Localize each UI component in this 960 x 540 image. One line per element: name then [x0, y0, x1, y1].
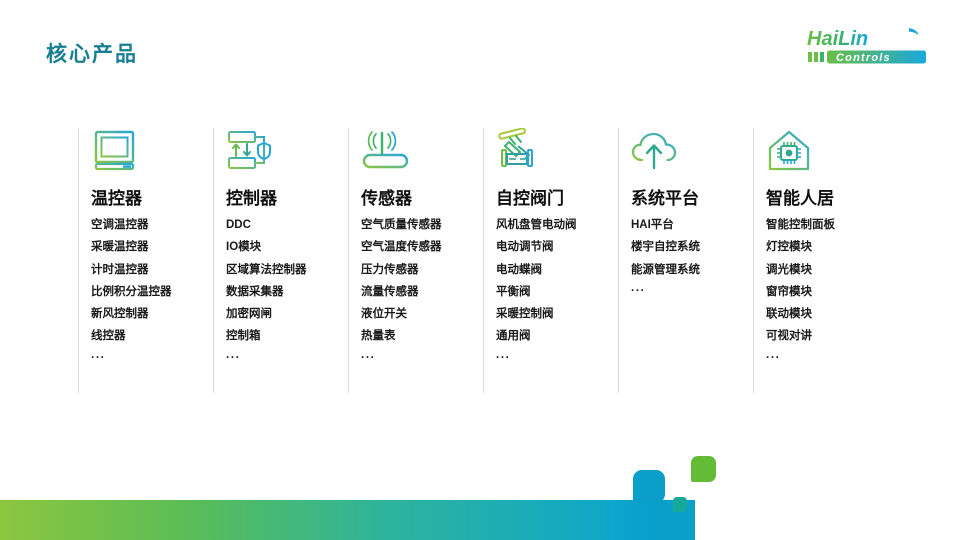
more-items-ellipsis: ···: [631, 285, 747, 297]
product-column-sensor: 传感器 空气质量传感器 空气温度传感器 压力传感器 流量传感器 液位开关 热量表…: [348, 128, 483, 393]
product-item: 液位开关: [361, 307, 477, 322]
product-item: 可视对讲: [766, 329, 882, 344]
monitor-thermostat-icon: [91, 128, 141, 174]
more-items-ellipsis: ···: [496, 352, 612, 364]
product-column-platform: 系统平台 HAI平台 楼宇自控系统 能源管理系统 ···: [618, 128, 753, 393]
product-column-thermostat: 温控器 空调温控器 采暖温控器 计时温控器 比例积分温控器 新风控制器 线控器 …: [78, 128, 213, 393]
product-item: 压力传感器: [361, 263, 477, 278]
more-items-ellipsis: ···: [361, 352, 477, 364]
product-item: 空调温控器: [91, 218, 207, 233]
product-item: HAI平台: [631, 218, 747, 233]
column-title: 传感器: [361, 188, 477, 209]
column-title: 智能人居: [766, 188, 882, 209]
product-item: 平衡阀: [496, 285, 612, 300]
product-item: 楼宇自控系统: [631, 240, 747, 255]
product-item: 线控器: [91, 329, 207, 344]
column-title: 控制器: [226, 188, 342, 209]
product-item: 窗帘模块: [766, 285, 882, 300]
svg-text:HaiLin: HaiLin: [807, 28, 868, 50]
wireless-sensor-icon: [361, 128, 411, 174]
product-item: 灯控模块: [766, 240, 882, 255]
product-item: 流量传感器: [361, 285, 477, 300]
product-item: 热量表: [361, 329, 477, 344]
more-items-ellipsis: ···: [766, 352, 882, 364]
product-item: 数据采集器: [226, 285, 342, 300]
product-item: 联动模块: [766, 307, 882, 322]
product-item: 比例积分温控器: [91, 285, 207, 300]
logo-graphic: HaiLin Controls: [806, 26, 932, 68]
product-item: 调光模块: [766, 263, 882, 278]
product-item: 电动调节阀: [496, 240, 612, 255]
hailin-controls-logo: HaiLin Controls: [806, 26, 932, 68]
page-title: 核心产品: [46, 38, 138, 68]
smart-home-chip-icon: [766, 128, 816, 174]
product-item: 电动蝶阀: [496, 263, 612, 278]
product-item: 能源管理系统: [631, 263, 747, 278]
product-item: 区域算法控制器: [226, 263, 342, 278]
cloud-upload-icon: [631, 128, 681, 174]
svg-text:Controls: Controls: [836, 52, 891, 64]
product-item: 新风控制器: [91, 307, 207, 322]
product-item: 风机盘管电动阀: [496, 218, 612, 233]
product-item: 采暖温控器: [91, 240, 207, 255]
product-category-columns: 温控器 空调温控器 采暖温控器 计时温控器 比例积分温控器 新风控制器 线控器 …: [78, 128, 888, 393]
product-item: DDC: [226, 218, 342, 233]
product-column-controller: 控制器 DDC IO模块 区域算法控制器 数据采集器 加密网闸 控制箱 ···: [213, 128, 348, 393]
decorative-tile-teal: [673, 497, 687, 512]
product-item: 通用阀: [496, 329, 612, 344]
product-item: 智能控制面板: [766, 218, 882, 233]
decorative-tile-green: [691, 456, 716, 482]
decorative-tile-blue: [633, 470, 665, 503]
column-title: 温控器: [91, 188, 207, 209]
product-item: 空气温度传感器: [361, 240, 477, 255]
column-title: 系统平台: [631, 188, 747, 209]
controller-module-icon: [226, 128, 276, 174]
product-item: 加密网闸: [226, 307, 342, 322]
product-column-valve: 自控阀门 风机盘管电动阀 电动调节阀 电动蝶阀 平衡阀 采暖控制阀 通用阀 ··…: [483, 128, 618, 393]
product-item: 采暖控制阀: [496, 307, 612, 322]
footer-gradient-bar: [0, 500, 660, 540]
product-item: 控制箱: [226, 329, 342, 344]
product-item: IO模块: [226, 240, 342, 255]
column-title: 自控阀门: [496, 188, 612, 209]
product-column-smarthome: 智能人居 智能控制面板 灯控模块 调光模块 窗帘模块 联动模块 可视对讲 ···: [753, 128, 888, 393]
slide-canvas: 核心产品 HaiLin Controls: [0, 0, 960, 540]
more-items-ellipsis: ···: [226, 352, 342, 364]
product-item: 计时温控器: [91, 263, 207, 278]
control-valve-icon: [496, 128, 546, 174]
more-items-ellipsis: ···: [91, 352, 207, 364]
product-item: 空气质量传感器: [361, 218, 477, 233]
